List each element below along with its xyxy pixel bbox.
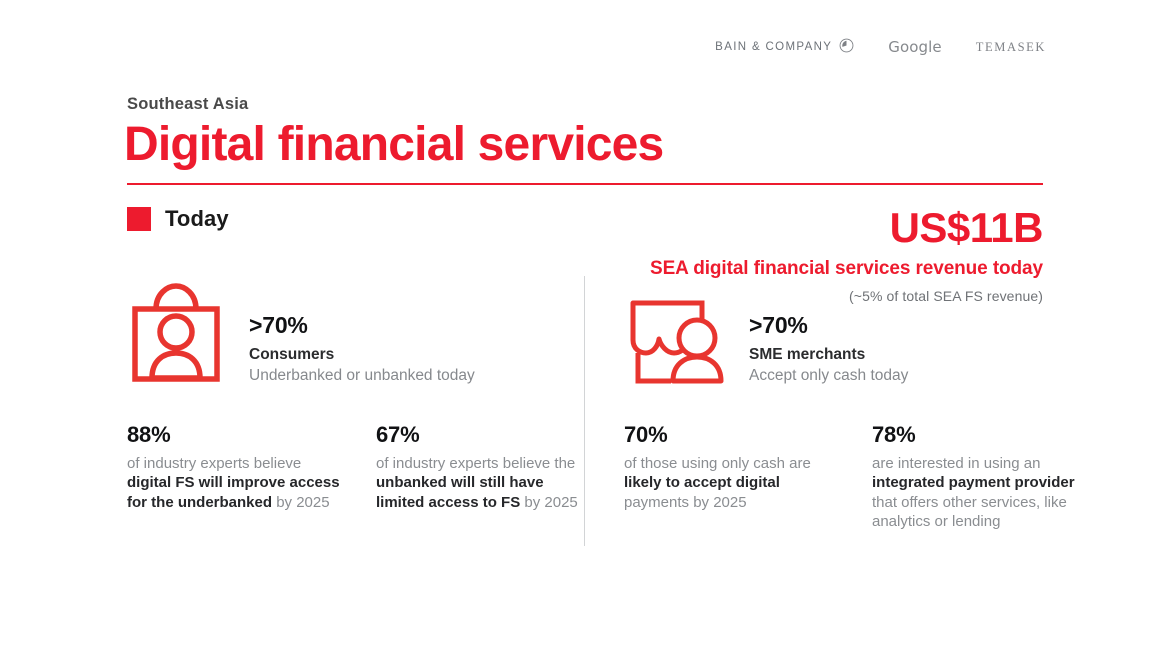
- revenue-value: US$11B: [623, 206, 1043, 250]
- bain-company-wordmark: BAIN & COMPANY: [715, 41, 832, 53]
- bain-company-logo: BAIN & COMPANY: [715, 38, 854, 56]
- legend-swatch-icon: [127, 207, 151, 231]
- page-eyebrow: Southeast Asia: [127, 95, 248, 114]
- temasek-logo: TEMASEK: [976, 40, 1046, 55]
- stat-card-2: 70% of those using only cash are likely …: [624, 423, 839, 512]
- segment-consumers-detail: Underbanked or unbanked today: [249, 366, 475, 386]
- segment-merchants-value: >70%: [749, 313, 908, 338]
- segment-consumers: >70% Consumers Underbanked or unbanked t…: [127, 277, 475, 390]
- google-logo: Google: [888, 38, 942, 56]
- stat-body: of those using only cash are likely to a…: [624, 454, 839, 512]
- stat-number: 88%: [127, 423, 342, 447]
- segment-consumers-label: Consumers: [249, 345, 475, 365]
- stat-card-1: 67% of industry experts believe the unba…: [376, 423, 591, 512]
- storefront-person-icon: [623, 295, 727, 392]
- shopping-bag-person-icon: [127, 277, 225, 390]
- title-divider-rule: [127, 183, 1043, 185]
- segment-consumers-value: >70%: [249, 313, 475, 338]
- legend-today-label: Today: [165, 206, 229, 232]
- revenue-highlight: US$11B SEA digital financial services re…: [623, 206, 1043, 304]
- segment-merchants-detail: Accept only cash today: [749, 366, 908, 386]
- stat-number: 70%: [624, 423, 839, 447]
- stat-number: 78%: [872, 423, 1087, 447]
- segment-sme-merchants: >70% SME merchants Accept only cash toda…: [623, 295, 908, 392]
- stat-body: are interested in using an integrated pa…: [872, 454, 1087, 531]
- stat-card-0: 88% of industry experts believe digital …: [127, 423, 342, 512]
- page-title: Digital financial services: [124, 117, 663, 172]
- revenue-description: SEA digital financial services revenue t…: [623, 256, 1043, 282]
- legend-today: Today: [127, 206, 229, 232]
- partner-logo-bar: BAIN & COMPANY Google TEMASEK: [715, 38, 1046, 56]
- stat-card-3: 78% are interested in using an integrate…: [872, 423, 1087, 531]
- stat-number: 67%: [376, 423, 591, 447]
- bain-roundel-icon: [839, 38, 854, 56]
- stat-body: of industry experts believe the unbanked…: [376, 454, 591, 512]
- stat-body: of industry experts believe digital FS w…: [127, 454, 342, 512]
- segment-merchants-label: SME merchants: [749, 345, 908, 365]
